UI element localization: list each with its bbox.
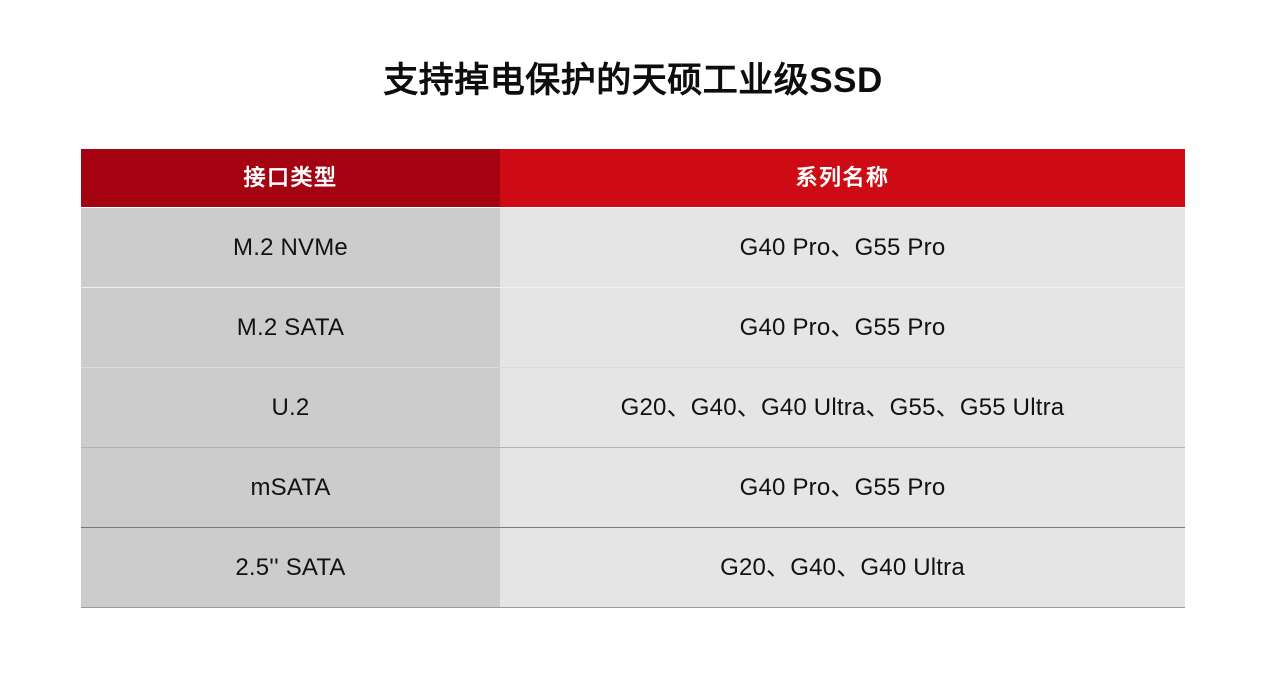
table-cell-text-series-name: G20、G40、G40 Ultra — [720, 556, 965, 580]
table-cell-series-name: G20、G40、G40 Ultra、G55、G55 Ultra — [500, 368, 1185, 447]
table-cell-text-series-name: G40 Pro、G55 Pro — [740, 316, 946, 340]
table-header-row: 接口类型 系列名称 — [81, 149, 1185, 207]
table-cell-interface-type: 2.5'' SATA — [81, 528, 500, 607]
table-cell-interface-type: M.2 NVMe — [81, 208, 500, 287]
table-cell-text-interface-type: 2.5'' SATA — [235, 556, 345, 580]
table-header-cell-series-name: 系列名称 — [500, 149, 1185, 207]
table-cell-series-name: G40 Pro、G55 Pro — [500, 448, 1185, 527]
table-cell-text-interface-type: mSATA — [250, 476, 330, 500]
table-cell-text-interface-type: U.2 — [272, 396, 310, 420]
table-cell-series-name: G40 Pro、G55 Pro — [500, 208, 1185, 287]
table-cell-interface-type: U.2 — [81, 368, 500, 447]
table-cell-interface-type: mSATA — [81, 448, 500, 527]
table-row: mSATA G40 Pro、G55 Pro — [81, 447, 1185, 527]
table-header-label-interface-type: 接口类型 — [243, 167, 337, 189]
table-cell-text-series-name: G20、G40、G40 Ultra、G55、G55 Ultra — [621, 396, 1065, 420]
table-cell-series-name: G40 Pro、G55 Pro — [500, 288, 1185, 367]
table-header-label-series-name: 系列名称 — [795, 167, 889, 189]
table-cell-text-series-name: G40 Pro、G55 Pro — [740, 476, 946, 500]
table-cell-text-series-name: G40 Pro、G55 Pro — [740, 236, 946, 260]
table-row: 2.5'' SATA G20、G40、G40 Ultra — [81, 527, 1185, 607]
ssd-compatibility-table: 接口类型 系列名称 M.2 NVMe G40 Pro、G55 Pro M.2 S… — [81, 149, 1185, 608]
table-cell-interface-type: M.2 SATA — [81, 288, 500, 367]
slide-canvas: 支持掉电保护的天硕工业级SSD 接口类型 系列名称 M.2 NVMe G40 P… — [0, 0, 1266, 677]
page-title: 支持掉电保护的天硕工业级SSD — [0, 58, 1266, 104]
table-cell-text-interface-type: M.2 SATA — [237, 316, 344, 340]
table-row: U.2 G20、G40、G40 Ultra、G55、G55 Ultra — [81, 367, 1185, 447]
table-header-cell-interface-type: 接口类型 — [81, 149, 500, 207]
table-cell-series-name: G20、G40、G40 Ultra — [500, 528, 1185, 607]
table-row: M.2 NVMe G40 Pro、G55 Pro — [81, 207, 1185, 287]
table-row: M.2 SATA G40 Pro、G55 Pro — [81, 287, 1185, 367]
table-cell-text-interface-type: M.2 NVMe — [233, 236, 348, 260]
